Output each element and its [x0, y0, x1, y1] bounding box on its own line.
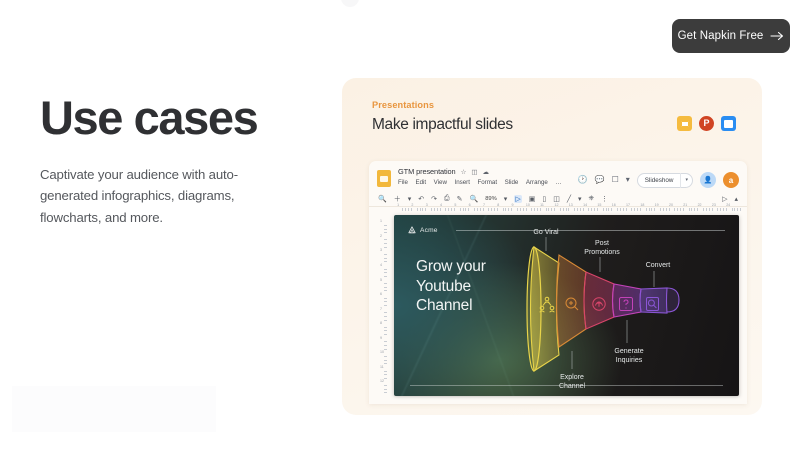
zoom-level[interactable]: 89%	[485, 196, 497, 202]
ruler-tick	[546, 208, 547, 211]
ruler-tick	[434, 208, 435, 211]
ruler-tick	[384, 371, 387, 372]
image-icon[interactable]: ◫	[553, 195, 560, 203]
ruler-tick	[663, 208, 664, 211]
version-history-icon[interactable]: 🕑	[578, 176, 588, 184]
ruler-tick	[505, 208, 506, 211]
ruler-tick	[448, 208, 449, 211]
zoom-icon[interactable]: 🔍	[469, 195, 478, 203]
menu-slide[interactable]: Slide	[505, 179, 519, 186]
ruler-top-number: 11	[540, 203, 544, 207]
ruler-tick	[608, 208, 609, 211]
ruler-tick	[384, 312, 387, 313]
slide-title: Grow your Youtube Channel	[416, 257, 486, 316]
ruler-tick	[384, 276, 387, 277]
ruler-top-number: 12	[554, 203, 558, 207]
ruler-tick	[384, 320, 387, 321]
supported-apps	[677, 116, 736, 131]
ruler-tick	[384, 269, 387, 270]
ruler-tick	[611, 208, 612, 211]
editor-titlebar: GTM presentation ☆ ◫ ☁ File Edit View In…	[369, 161, 747, 188]
editor-actions: 🕑 💬 ☐ ▾ Slideshow ▾ 👤 a	[578, 167, 739, 188]
ruler-tick	[425, 208, 426, 211]
ruler-tick	[384, 254, 387, 255]
slide-logo: Acme	[408, 226, 438, 234]
ruler-tick	[451, 208, 452, 211]
ruler-tick	[474, 208, 475, 211]
ruler-tick	[384, 305, 387, 306]
ruler-tick	[422, 208, 423, 211]
ruler-tick	[649, 208, 650, 211]
ruler-tick	[526, 208, 527, 211]
chevron-up-icon[interactable]: ▴	[734, 195, 738, 203]
ruler-tick	[560, 208, 561, 211]
ruler-tick	[666, 208, 667, 211]
ruler-tick	[566, 208, 567, 211]
document-title-row: GTM presentation ☆ ◫ ☁	[398, 167, 562, 176]
ruler-tick	[674, 208, 675, 211]
ruler-tick	[511, 208, 512, 211]
ruler-top-number: 23	[712, 203, 716, 207]
stage-label-explore-channel-1: Explore	[560, 374, 584, 381]
ruler-top-number: 13	[569, 203, 573, 207]
document-title[interactable]: GTM presentation	[398, 167, 456, 176]
move-to-folder-icon[interactable]: ◫	[471, 168, 477, 176]
menu-insert[interactable]: Insert	[454, 179, 469, 186]
bottom-left-placeholder-block	[12, 386, 216, 432]
ruler-tick	[534, 208, 535, 211]
ruler-tick	[723, 208, 724, 211]
ruler-tick	[620, 208, 621, 211]
powerpoint-icon	[699, 116, 714, 131]
ruler-tick	[503, 208, 504, 211]
ruler-tick	[588, 208, 589, 211]
ruler-tick	[669, 208, 670, 211]
ruler-tick	[654, 208, 655, 211]
ruler-tick	[405, 208, 406, 211]
undo-icon[interactable]: ↶	[418, 195, 424, 203]
ruler-tick	[454, 208, 455, 211]
ruler-tick	[637, 208, 638, 211]
ruler-tick	[491, 208, 492, 211]
ruler-tick	[677, 208, 678, 211]
slide-title-line-2: Youtube	[416, 277, 486, 297]
ruler-tick	[384, 389, 387, 390]
ruler-tick	[691, 208, 692, 211]
ruler-tick	[384, 261, 387, 262]
ruler-top-number: 24	[726, 203, 730, 207]
ruler-tick	[597, 208, 598, 211]
get-napkin-free-button[interactable]: Get Napkin Free	[672, 19, 790, 53]
ruler-tick	[460, 208, 461, 211]
ruler-tick	[577, 208, 578, 211]
ruler-tick	[603, 208, 604, 211]
menu-edit[interactable]: Edit	[415, 179, 426, 186]
ruler-top-number: 16	[612, 203, 616, 207]
ruler-tick	[488, 208, 489, 211]
pen-icon[interactable]: ▷	[722, 195, 727, 203]
ruler-top-number: 5	[454, 203, 456, 207]
ruler-tick	[384, 360, 387, 361]
cursor-select-icon[interactable]: ▷	[514, 195, 521, 203]
slide-canvas[interactable]: Acme Grow your Youtube Channel	[394, 215, 739, 396]
ruler-top-number: 19	[655, 203, 659, 207]
ruler-top-number: 9	[512, 203, 514, 207]
chevron-down-icon[interactable]: ▾	[578, 195, 582, 203]
ruler-tick	[626, 208, 627, 211]
ruler-tick	[445, 208, 446, 211]
star-icon[interactable]: ☆	[461, 168, 467, 176]
ruler-tick	[554, 208, 555, 211]
ruler-left-number: 11	[380, 365, 384, 369]
ruler-top-number: 8	[497, 203, 499, 207]
ruler-tick	[594, 208, 595, 211]
slide-logo-text: Acme	[420, 227, 438, 234]
stage-label-convert: Convert	[646, 262, 671, 269]
ruler-tick	[720, 208, 721, 211]
line-icon[interactable]: ╱	[567, 195, 571, 203]
ruler-top-number: 7	[483, 203, 485, 207]
ruler-tick	[417, 208, 418, 211]
ruler-tick	[384, 363, 387, 364]
select-box-icon[interactable]: ▣	[529, 195, 536, 203]
ruler-left[interactable]: 123456789101112	[379, 214, 388, 396]
print-icon[interactable]: ⎙	[444, 195, 450, 203]
ruler-left-number: 6	[380, 292, 382, 296]
ruler-tick	[384, 374, 387, 375]
search-icon[interactable]: 🔍	[378, 195, 387, 203]
ruler-tick	[411, 208, 412, 211]
stage-label-explore-channel-2: Channel	[559, 383, 586, 390]
ruler-top-number: 10	[526, 203, 530, 207]
ruler-top[interactable]: 123456789101112131415161718192021222324	[391, 203, 743, 212]
ruler-tick	[384, 356, 387, 357]
ruler-tick	[517, 208, 518, 211]
more-icon[interactable]: ⋮	[601, 195, 608, 203]
ruler-tick	[574, 208, 575, 211]
ruler-tick	[651, 208, 652, 211]
ruler-tick	[706, 208, 707, 211]
meet-icon[interactable]: ☐	[612, 176, 619, 184]
ruler-tick	[384, 301, 387, 302]
chevron-down-icon[interactable]: ▾	[408, 195, 412, 203]
ruler-top-number: 15	[597, 203, 601, 207]
google-slides-icon	[677, 116, 692, 131]
ruler-tick	[384, 334, 387, 335]
ruler-tick	[623, 208, 624, 211]
ruler-tick	[384, 298, 387, 299]
ruler-top-number: 4	[440, 203, 442, 207]
ruler-left-number: 8	[380, 321, 382, 325]
ruler-tick	[634, 208, 635, 211]
triangle-logo-icon	[408, 226, 416, 234]
ruler-tick	[463, 208, 464, 211]
ruler-left-number: 12	[380, 379, 384, 383]
ruler-tick	[483, 208, 484, 211]
ruler-tick	[523, 208, 524, 211]
ruler-tick	[384, 287, 387, 288]
ruler-tick	[384, 341, 387, 342]
slide-title-line-3: Channel	[416, 296, 486, 316]
ruler-tick	[494, 208, 495, 211]
ruler-tick	[646, 208, 647, 211]
ruler-left-number: 3	[380, 248, 382, 252]
intro-column: Use cases Captivate your audience with a…	[40, 94, 290, 228]
ruler-tick	[734, 208, 735, 211]
ruler-tick	[440, 208, 441, 211]
ruler-left-number: 1	[380, 219, 382, 223]
ruler-tick	[384, 330, 387, 331]
ruler-tick	[548, 208, 549, 211]
ruler-tick	[431, 208, 432, 211]
ruler-tick	[384, 345, 387, 346]
ruler-tick	[520, 208, 521, 211]
slideshow-button[interactable]: Slideshow ▾	[637, 173, 693, 188]
avatar[interactable]: a	[723, 172, 739, 188]
ruler-tick	[726, 208, 727, 211]
ruler-tick	[384, 232, 387, 233]
stage-label-post-promotions-2: Promotions	[584, 249, 620, 256]
ruler-tick	[384, 290, 387, 291]
ruler-tick	[689, 208, 690, 211]
ruler-tick	[680, 208, 681, 211]
stage-label-generate-inquiries-1: Generate	[614, 348, 643, 355]
top-center-decoration	[341, 0, 359, 7]
google-slides-window[interactable]: GTM presentation ☆ ◫ ☁ File Edit View In…	[369, 161, 747, 404]
ruler-tick	[617, 208, 618, 211]
ruler-top-number: 1	[397, 203, 399, 207]
use-case-card-presentations[interactable]: Presentations Make impactful slides GTM …	[342, 78, 762, 415]
paint-format-icon[interactable]: ✎	[457, 195, 463, 203]
ruler-tick	[384, 378, 387, 379]
stage-label-go-viral: Go Viral	[533, 229, 559, 236]
ruler-tick	[697, 208, 698, 211]
editor-bottom-fade	[369, 396, 747, 404]
ruler-tick	[384, 258, 387, 259]
comment-icon[interactable]: 💬	[595, 176, 605, 184]
ruler-tick	[465, 208, 466, 211]
ruler-tick	[660, 208, 661, 211]
stage-label-generate-inquiries-2: Inquiries	[616, 357, 643, 364]
ruler-tick	[508, 208, 509, 211]
comment-add-icon[interactable]: ⎈	[589, 195, 595, 203]
editor-menubar: File Edit View Insert Format Slide Arran…	[398, 179, 562, 186]
ruler-tick	[480, 208, 481, 211]
ruler-tick	[384, 225, 387, 226]
card-header: Presentations Make impactful slides	[342, 78, 762, 134]
ruler-tick	[640, 208, 641, 211]
arrow-right-icon	[770, 31, 784, 41]
menu-view[interactable]: View	[434, 179, 447, 186]
ruler-top-number: 17	[626, 203, 630, 207]
menu-overflow[interactable]: …	[555, 179, 561, 186]
ruler-top-number: 14	[583, 203, 587, 207]
card-eyebrow: Presentations	[372, 100, 736, 110]
ruler-tick	[384, 247, 387, 248]
ruler-top-number: 2	[411, 203, 413, 207]
textbox-icon[interactable]: ▯	[542, 195, 546, 203]
ruler-tick	[384, 239, 387, 240]
ruler-tick	[737, 208, 738, 211]
ruler-tick	[437, 208, 438, 211]
ruler-tick	[384, 283, 387, 284]
ruler-tick	[580, 208, 581, 211]
chevron-down-icon[interactable]: ▾	[681, 177, 692, 183]
ruler-tick	[712, 208, 713, 211]
share-person-icon[interactable]: 👤	[700, 172, 716, 188]
ruler-left-number: 7	[380, 307, 382, 311]
menu-file[interactable]: File	[398, 179, 408, 186]
ruler-tick	[420, 208, 421, 211]
ruler-tick	[497, 208, 498, 211]
ruler-tick	[631, 208, 632, 211]
ruler-tick	[732, 208, 733, 211]
page-title: Use cases	[40, 94, 290, 143]
keynote-icon	[721, 116, 736, 131]
ruler-tick	[606, 208, 607, 211]
ruler-tick	[537, 208, 538, 211]
ruler-tick	[384, 349, 387, 350]
ruler-left-number: 9	[380, 336, 382, 340]
ruler-tick	[540, 208, 541, 211]
ruler-tick	[384, 229, 387, 230]
slide-title-line-1: Grow your	[416, 257, 486, 277]
funnel-mouth	[527, 247, 541, 371]
ruler-tick	[468, 208, 469, 211]
ruler-top-number: 18	[640, 203, 644, 207]
ruler-tick	[384, 392, 387, 393]
page-subcopy: Captivate your audience with auto-genera…	[40, 164, 280, 228]
ruler-tick	[563, 208, 564, 211]
funnel-diagram[interactable]: Go Viral Explore Channel Post Promotions…	[524, 223, 739, 396]
ruler-top-number: 22	[698, 203, 702, 207]
ruler-tick	[591, 208, 592, 211]
ruler-left-number: 2	[380, 234, 382, 238]
page-root: Get Napkin Free Use cases Captivate your…	[0, 0, 800, 450]
ruler-tick	[477, 208, 478, 211]
slides-document-icon	[377, 170, 391, 187]
ruler-tick	[717, 208, 718, 211]
ruler-top-number: 20	[669, 203, 673, 207]
chevron-down-icon[interactable]: ▾	[626, 176, 630, 184]
ruler-tick	[551, 208, 552, 211]
stage-label-post-promotions-1: Post	[595, 240, 609, 247]
slideshow-label: Slideshow	[638, 177, 681, 184]
ruler-tick	[408, 208, 409, 211]
ruler-left-number: 4	[380, 263, 382, 267]
ruler-tick	[694, 208, 695, 211]
ruler-tick	[568, 208, 569, 211]
ruler-tick	[384, 243, 387, 244]
ruler-top-number: 21	[683, 203, 687, 207]
ruler-tick	[384, 316, 387, 317]
ruler-tick	[531, 208, 532, 211]
redo-icon[interactable]: ↷	[431, 195, 437, 203]
ruler-tick	[703, 208, 704, 211]
cloud-status-icon[interactable]: ☁	[483, 168, 490, 176]
cta-label: Get Napkin Free	[678, 30, 764, 42]
chevron-down-icon[interactable]: ▾	[504, 195, 508, 203]
ruler-left-number: 10	[380, 350, 384, 354]
menu-arrange[interactable]: Arrange	[526, 179, 548, 186]
ruler-tick	[740, 208, 741, 211]
ruler-tick	[683, 208, 684, 211]
ruler-tick	[384, 385, 387, 386]
ruler-left-number: 5	[380, 278, 382, 282]
menu-format[interactable]: Format	[477, 179, 497, 186]
ruler-top-number: 3	[426, 203, 428, 207]
funnel-neck	[667, 288, 679, 312]
ruler-top-number: 6	[469, 203, 471, 207]
ruler-tick	[384, 327, 387, 328]
ruler-tick	[709, 208, 710, 211]
ruler-tick	[402, 208, 403, 211]
ruler-tick	[384, 272, 387, 273]
ruler-tick	[583, 208, 584, 211]
funnel-segment-post-promotions	[584, 272, 614, 329]
